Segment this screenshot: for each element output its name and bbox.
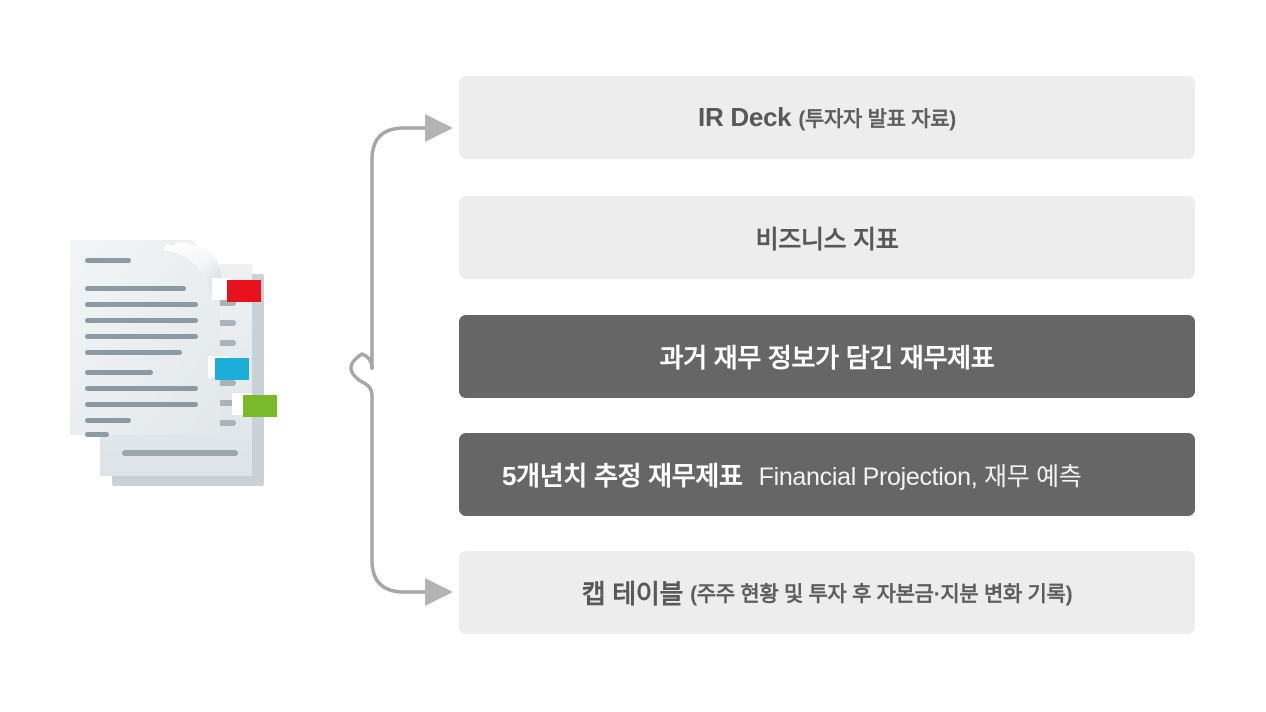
cyan-tab-icon xyxy=(215,358,249,380)
arrow-to-last-item xyxy=(425,578,453,606)
item-title: 캡 테이블 xyxy=(582,574,683,611)
brace-connector xyxy=(320,100,470,620)
connector-top-branch xyxy=(372,128,428,368)
red-tab-icon xyxy=(227,280,261,302)
list-item-five-year-projection[interactable]: 5개년치 추정 재무제표 Financial Projection, 재무 예측 xyxy=(459,433,1195,516)
list-item-historical-financial-statements[interactable]: 과거 재무 정보가 담긴 재무제표 xyxy=(459,315,1195,398)
arrow-to-first-item xyxy=(425,114,453,142)
connector-bottom-branch xyxy=(372,396,428,592)
item-title: IR Deck xyxy=(698,102,791,133)
list-item-ir-deck[interactable]: IR Deck (투자자 발표 자료) xyxy=(459,76,1195,159)
item-subtitle: (투자자 발표 자료) xyxy=(798,103,956,133)
item-title: 과거 재무 정보가 담긴 재무제표 xyxy=(660,338,995,375)
item-title: 5개년치 추정 재무제표 xyxy=(502,456,743,493)
diagram-canvas: IR Deck (투자자 발표 자료) 비즈니스 지표 과거 재무 정보가 담긴… xyxy=(0,0,1266,712)
item-title: 비즈니스 지표 xyxy=(756,220,899,256)
connector-notch xyxy=(351,354,372,396)
list-item-business-metrics[interactable]: 비즈니스 지표 xyxy=(459,196,1195,279)
item-subtitle: (주주 현황 및 투자 후 자본금·지분 변화 기록) xyxy=(690,578,1072,608)
stacked-documents-icon xyxy=(60,228,300,500)
green-tab-icon xyxy=(243,395,277,417)
list-item-cap-table[interactable]: 캡 테이블 (주주 현황 및 투자 후 자본금·지분 변화 기록) xyxy=(459,551,1195,634)
item-subtitle: Financial Projection, 재무 예측 xyxy=(759,457,1082,493)
